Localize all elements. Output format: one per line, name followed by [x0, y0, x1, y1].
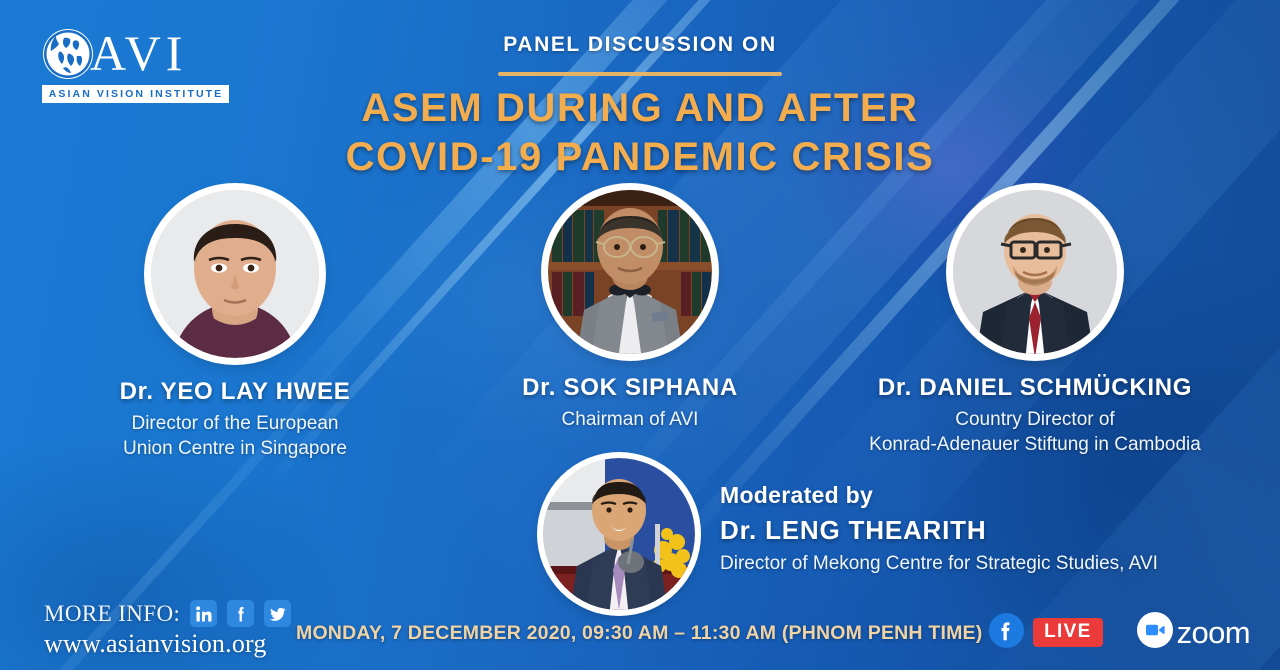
facebook-icon[interactable] — [227, 600, 254, 627]
panelist-card: Dr. SOK SIPHANA Chairman of AVI — [455, 190, 805, 432]
facebook-icon — [989, 613, 1024, 653]
panelist-name: Dr. DANIEL SCHMÜCKING — [835, 374, 1235, 402]
panelist-role-line-1: Chairman of AVI — [455, 407, 805, 432]
gold-divider — [498, 72, 782, 76]
linkedin-icon[interactable] — [190, 600, 217, 627]
panelist-role-line-2: Konrad-Adenauer Stiftung in Cambodia — [835, 432, 1235, 457]
avatar — [543, 458, 695, 610]
video-camera-icon — [1137, 612, 1173, 653]
avatar — [151, 190, 319, 358]
avatar — [548, 190, 712, 354]
panelist-card: Dr. YEO LAY HWEE Director of the Europea… — [60, 190, 410, 461]
event-datetime: MONDAY, 7 DECEMBER 2020, 09:30 AM – 11:3… — [296, 622, 982, 645]
panelist-role-line-2: Union Centre in Singapore — [60, 436, 410, 461]
moderator-name: Dr. LENG THEARITH — [720, 515, 1158, 546]
broadcast-platforms: LIVE zoom — [989, 612, 1250, 653]
avatar — [953, 190, 1117, 354]
live-label: LIVE — [1033, 618, 1102, 647]
panelist-role-line-1: Country Director of — [835, 407, 1235, 432]
moderator-text: Moderated by Dr. LENG THEARITH Director … — [720, 482, 1158, 575]
more-info-block: MORE INFO: www.asianvision.org — [44, 600, 291, 659]
panelist-role-line-1: Director of the European — [60, 411, 410, 436]
facebook-live-badge: LIVE — [989, 613, 1102, 653]
panelist-name: Dr. YEO LAY HWEE — [60, 378, 410, 406]
website-url[interactable]: www.asianvision.org — [44, 629, 291, 659]
moderator-role: Director of Mekong Centre for Strategic … — [720, 553, 1158, 575]
twitter-icon[interactable] — [264, 600, 291, 627]
panelist-name: Dr. SOK SIPHANA — [455, 374, 805, 402]
zoom-wordmark: zoom — [1177, 615, 1250, 651]
zoom-logo: zoom — [1137, 612, 1250, 653]
moderator-card — [543, 458, 695, 610]
more-info-label: MORE INFO: — [44, 601, 180, 627]
event-poster: AVI ASIAN VISION INSTITUTE PANEL DISCUSS… — [0, 0, 1280, 670]
panelist-card: Dr. DANIEL SCHMÜCKING Country Director o… — [835, 190, 1235, 457]
title-line-2: COVID-19 PANDEMIC CRISIS — [0, 133, 1280, 182]
title-line-1: ASEM DURING AND AFTER — [0, 84, 1280, 133]
moderated-by-label: Moderated by — [720, 482, 1158, 509]
kicker-text: PANEL DISCUSSION ON — [0, 33, 1280, 57]
page-title: ASEM DURING AND AFTER COVID-19 PANDEMIC … — [0, 84, 1280, 182]
